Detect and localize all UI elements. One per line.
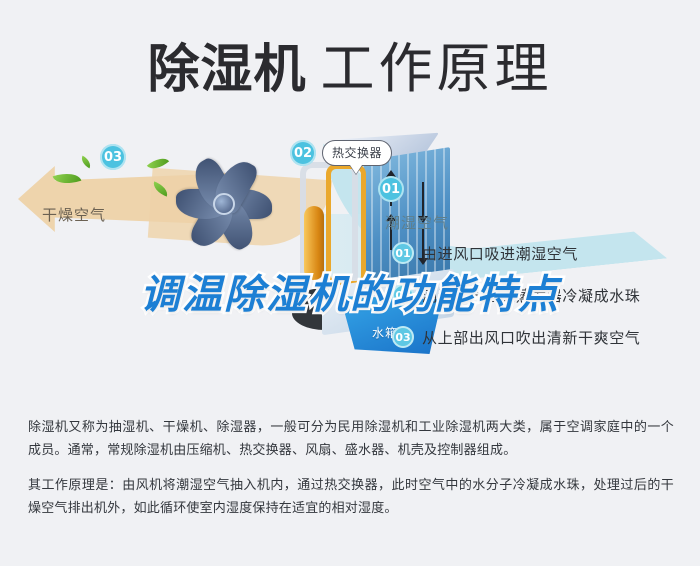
fan-hub: [213, 193, 235, 215]
list-item: 01 由进风口吸进潮湿空气: [392, 242, 682, 264]
dry-air-label: 干燥空气: [42, 204, 106, 225]
diagram-stage: 水箱 干燥空气 潮湿空气 03 02 01 热交换器 01 由进风口吸进潮湿空气…: [0, 118, 700, 396]
humid-air-label: 潮湿空气: [385, 212, 449, 233]
body-copy: 除湿机又称为抽湿机、干燥机、除湿器，一般可分为民用除湿机和工业除湿机两大类，属于…: [28, 416, 674, 520]
badge-02-heat-exchanger: 02: [290, 140, 316, 166]
page-title-secondary: 工作原理: [321, 37, 553, 100]
heat-exchanger-callout: 热交换器: [322, 140, 392, 166]
leaf-icon: [79, 156, 93, 169]
step-label: 由进风口吸进潮湿空气: [422, 243, 578, 264]
list-item: 03 从上部出风口吹出清新干爽空气: [392, 326, 682, 348]
step-number-badge: 01: [392, 242, 414, 264]
airflow-arrow-down: [422, 182, 424, 216]
page-root: 除湿机工作原理: [0, 0, 700, 566]
fan-illustration: [168, 148, 280, 260]
body-paragraph-2: 其工作原理是：由风机将潮湿空气抽入机内，通过热交换器，此时空气中的水分子冷凝成水…: [28, 474, 674, 520]
badge-03-dry-air: 03: [100, 144, 126, 170]
page-title-primary: 除湿机: [147, 40, 306, 100]
body-paragraph-1: 除湿机又称为抽湿机、干燥机、除湿器，一般可分为民用除湿机和工业除湿机两大类，属于…: [28, 416, 674, 462]
badge-01-humid-intake: 01: [378, 176, 404, 202]
overlay-headline: 调温除湿机的功能特点: [0, 262, 700, 320]
page-title: 除湿机工作原理: [0, 24, 700, 103]
step-label: 从上部出风口吹出清新干爽空气: [422, 327, 640, 348]
step-number-badge: 03: [392, 326, 414, 348]
